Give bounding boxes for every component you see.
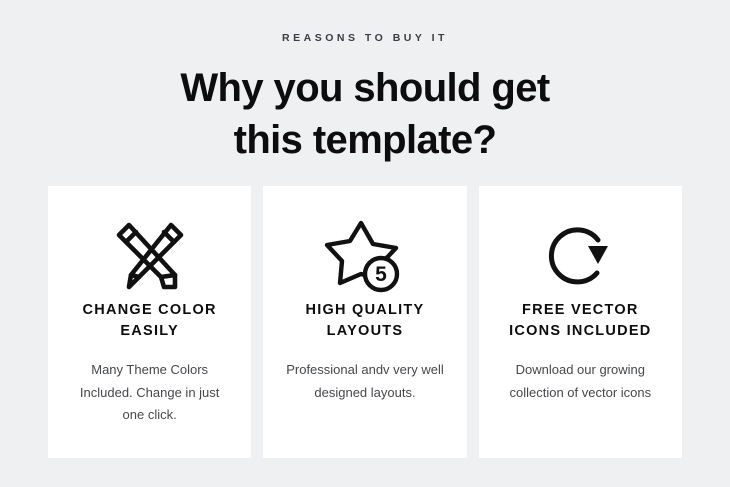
section-eyebrow: REASONS TO BUY IT	[0, 33, 730, 44]
feature-card-title: CHANGE COLOR EASILY	[64, 300, 235, 341]
feature-card[interactable]: FREE VECTOR ICONS INCLUDED Download our …	[479, 186, 682, 458]
svg-text:5: 5	[375, 263, 387, 286]
headline-line-2: this template?	[234, 118, 497, 162]
refresh-circle-arrow-icon	[540, 214, 620, 300]
section-header: REASONS TO BUY IT Why you should get thi…	[0, 0, 730, 167]
star-rating-five-icon: 5	[323, 214, 407, 300]
feature-card[interactable]: 5 HIGH QUALITY LAYOUTS Professional andv…	[263, 186, 466, 458]
feature-card[interactable]: CHANGE COLOR EASILY Many Theme Colors In…	[48, 186, 251, 458]
feature-card-title: FREE VECTOR ICONS INCLUDED	[495, 300, 666, 341]
pencil-brush-icon	[109, 214, 191, 300]
headline-line-1: Why you should get	[180, 66, 549, 110]
feature-card-description: Many Theme Colors Included. Change in ju…	[70, 359, 230, 426]
feature-card-description: Professional andv very well designed lay…	[285, 359, 445, 404]
feature-card-list: CHANGE COLOR EASILY Many Theme Colors In…	[48, 186, 682, 458]
page-title: Why you should get this template?	[130, 62, 600, 168]
feature-card-title: HIGH QUALITY LAYOUTS	[279, 300, 450, 341]
reasons-to-buy-section: REASONS TO BUY IT Why you should get thi…	[0, 0, 730, 487]
feature-card-description: Download our growing collection of vecto…	[500, 359, 660, 404]
